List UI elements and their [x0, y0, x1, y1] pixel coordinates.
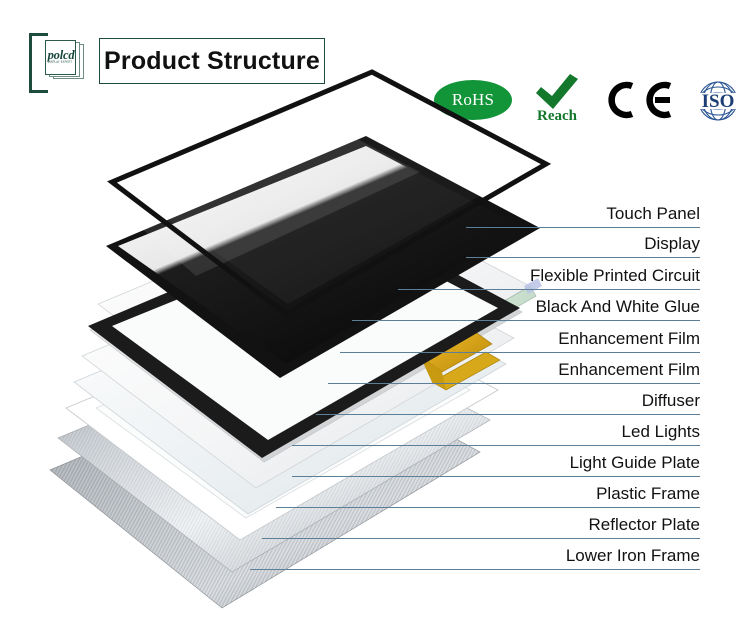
- label-led-lights: Led Lights: [622, 422, 700, 442]
- leader-line: [316, 414, 700, 415]
- label-row-light-guide-plate: Light Guide Plate: [292, 447, 700, 477]
- label-column: Touch Panel Display Flexible Printed Cir…: [0, 0, 750, 642]
- label-reflector-plate: Reflector Plate: [589, 515, 701, 535]
- label-enhancement-film-1: Enhancement Film: [558, 329, 700, 349]
- label-row-touch-panel: Touch Panel: [466, 198, 700, 228]
- label-light-guide-plate: Light Guide Plate: [570, 453, 700, 473]
- label-row-lower-iron-frame: Lower Iron Frame: [250, 540, 700, 570]
- leader-line: [250, 569, 700, 570]
- label-plastic-frame: Plastic Frame: [596, 484, 700, 504]
- leader-line: [352, 320, 700, 321]
- label-row-black-and-white-glue: Black And White Glue: [352, 291, 700, 321]
- label-black-and-white-glue: Black And White Glue: [536, 297, 700, 317]
- leader-line: [292, 445, 700, 446]
- label-touch-panel: Touch Panel: [606, 204, 700, 224]
- label-row-diffuser: Diffuser: [316, 385, 700, 415]
- leader-line: [262, 538, 700, 539]
- label-row-enhancement-film-1: Enhancement Film: [340, 323, 700, 353]
- label-row-enhancement-film-2: Enhancement Film: [328, 354, 700, 384]
- label-row-display: Display: [466, 228, 700, 258]
- leader-line: [466, 257, 700, 258]
- leader-line: [328, 383, 700, 384]
- label-display: Display: [644, 234, 700, 254]
- label-row-plastic-frame: Plastic Frame: [276, 478, 700, 508]
- label-enhancement-film-2: Enhancement Film: [558, 360, 700, 380]
- leader-line: [292, 476, 700, 477]
- label-lower-iron-frame: Lower Iron Frame: [566, 546, 700, 566]
- label-row-flexible-printed-circuit: Flexible Printed Circuit: [398, 260, 700, 290]
- leader-line: [340, 352, 700, 353]
- leader-line: [276, 507, 700, 508]
- label-flexible-printed-circuit: Flexible Printed Circuit: [530, 266, 700, 286]
- product-structure-diagram: polcd DISPLAY EXPERT Product Structure R…: [0, 0, 750, 642]
- leader-line: [398, 289, 700, 290]
- label-row-reflector-plate: Reflector Plate: [262, 509, 700, 539]
- label-diffuser: Diffuser: [642, 391, 700, 411]
- label-row-led-lights: Led Lights: [292, 416, 700, 446]
